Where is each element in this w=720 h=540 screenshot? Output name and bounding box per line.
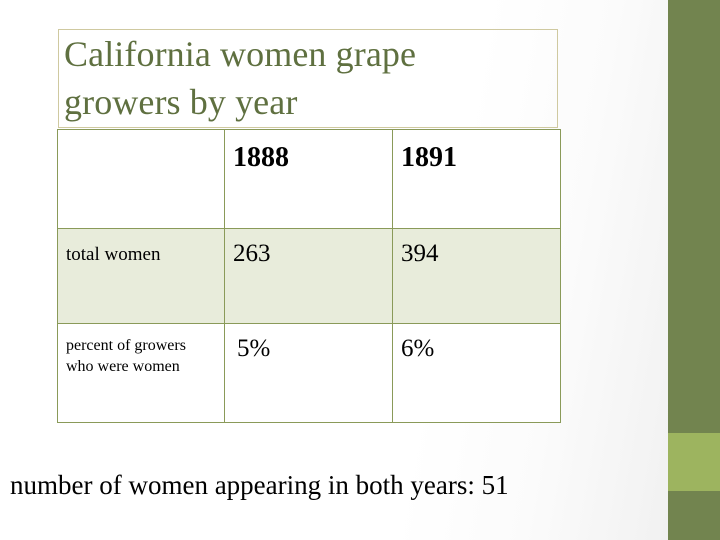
header-cell-1888: 1888 <box>225 130 393 229</box>
decorative-bar-accent <box>668 433 720 491</box>
cell-percent-women-1888: 5% <box>225 324 393 423</box>
cell-text: 394 <box>393 229 560 269</box>
table-row: total women 263 394 <box>58 229 561 324</box>
cell-percent-women-1891: 6% <box>393 324 561 423</box>
row-label-total-women: total women <box>58 229 225 324</box>
header-label-empty <box>58 130 224 141</box>
table-row: percent of growers who were women 5% 6% <box>58 324 561 423</box>
cell-text: 5% <box>225 324 392 364</box>
header-cell-blank <box>58 130 225 229</box>
cell-text: total women <box>58 229 224 267</box>
header-label-year-1891: 1891 <box>393 130 560 175</box>
header-label-year-1888: 1888 <box>225 130 392 175</box>
decorative-bar-top <box>668 0 720 433</box>
cell-total-women-1888: 263 <box>225 229 393 324</box>
table-header-row: 1888 1891 <box>58 130 561 229</box>
slide-caption: number of women appearing in both years:… <box>10 468 509 502</box>
cell-text: percent of growers who were women <box>58 324 224 377</box>
data-table: 1888 1891 total women 263 394 <box>57 129 561 423</box>
row-label-percent-women: percent of growers who were women <box>58 324 225 423</box>
slide-canvas: California women grape growers by year 1… <box>0 0 720 540</box>
cell-text: 6% <box>393 324 560 364</box>
header-cell-1891: 1891 <box>393 130 561 229</box>
cell-text: 263 <box>225 229 392 269</box>
decorative-bar-bottom <box>668 491 720 540</box>
page-title: California women grape growers by year <box>64 30 564 126</box>
cell-total-women-1891: 394 <box>393 229 561 324</box>
